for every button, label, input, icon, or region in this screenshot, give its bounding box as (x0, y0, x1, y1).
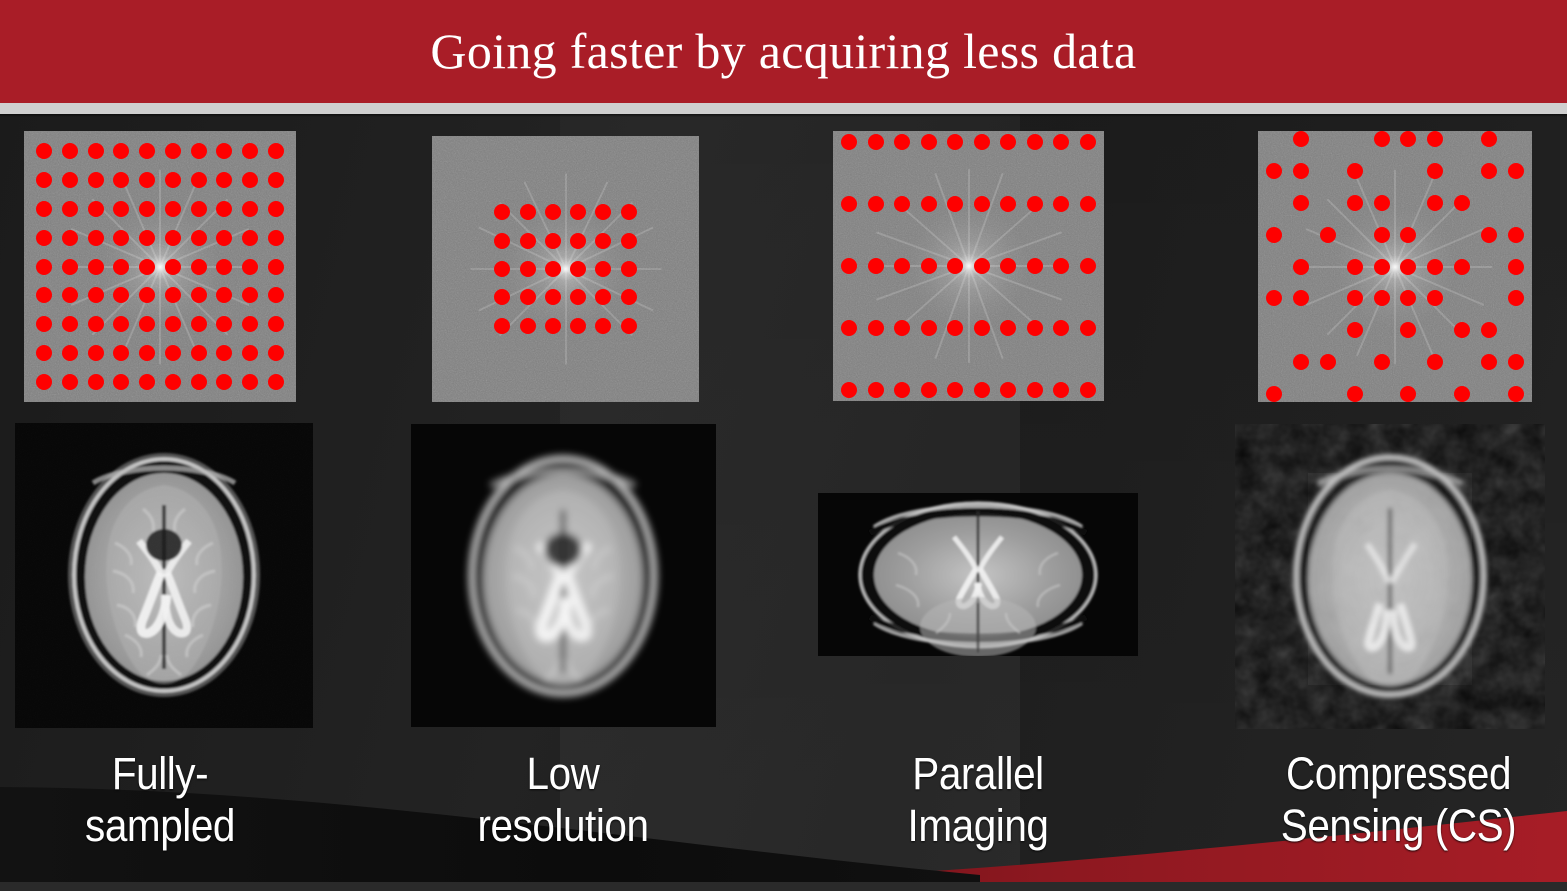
kspace-sample-dot (1000, 134, 1016, 150)
kspace-sample-dot (191, 143, 207, 159)
slide-root: Going faster by acquiring less data (0, 0, 1567, 891)
caption-fully-sampled: Fully- sampled (16, 748, 304, 852)
kspace-sample-dot (62, 374, 78, 390)
kspace-sample-dot (1454, 386, 1470, 402)
kspace-sample-dot (921, 382, 937, 398)
kspace-sample-dot (1374, 131, 1390, 147)
kspace-sample-dot (165, 201, 181, 217)
kspace-sample-dot (165, 345, 181, 361)
kspace-sample-dot (921, 258, 937, 274)
bottom-strip (0, 882, 1567, 891)
kspace-sample-dot (1508, 259, 1524, 275)
kspace-sample-dot (268, 316, 284, 332)
kspace-sample-dot (165, 259, 181, 275)
kspace-sample-dot (139, 374, 155, 390)
kspace-sample-dot (595, 233, 611, 249)
caption-line-1: Fully- (16, 748, 304, 800)
kspace-sample-dot (1293, 195, 1309, 211)
kspace-sample-dot (268, 287, 284, 303)
kspace-sample-dot (88, 201, 104, 217)
kspace-sample-dot (1508, 227, 1524, 243)
kspace-sample-dot (1027, 382, 1043, 398)
kspace-sample-dot (242, 259, 258, 275)
kspace-sample-dot (1027, 196, 1043, 212)
kspace-sample-dot (1427, 195, 1443, 211)
kspace-sample-dot (268, 201, 284, 217)
compressed-sensing-kspace (1258, 131, 1532, 402)
caption-line-2: Imaging (834, 800, 1122, 852)
title-banner: Going faster by acquiring less data (0, 0, 1567, 103)
brain-mri-axial-aliased (818, 493, 1138, 656)
kspace-sample-dot (1481, 227, 1497, 243)
parallel-imaging-brain (818, 493, 1138, 656)
kspace-sample-dot (621, 204, 637, 220)
kspace-sample-dot (1080, 382, 1096, 398)
kspace-sample-dot (1374, 259, 1390, 275)
caption-line-1: Low (419, 748, 707, 800)
kspace-sample-dot (520, 289, 536, 305)
kspace-sample-dot (88, 345, 104, 361)
kspace-sample-dot (1266, 227, 1282, 243)
kspace-sample-dot (1027, 320, 1043, 336)
caption-line-2: resolution (419, 800, 707, 852)
kspace-sample-dot (1347, 386, 1363, 402)
kspace-sample-dot (894, 134, 910, 150)
kspace-sample-dot (62, 201, 78, 217)
fully-sampled-brain (15, 423, 313, 728)
kspace-sample-dot (62, 345, 78, 361)
kspace-sample-dot (1508, 386, 1524, 402)
kspace-sample-dot (921, 320, 937, 336)
kspace-sample-dot (165, 230, 181, 246)
kspace-sample-dot (545, 261, 561, 277)
kspace-sample-dot (191, 374, 207, 390)
kspace-sample-dot (36, 259, 52, 275)
kspace-sample-dot (1080, 196, 1096, 212)
kspace-sample-dot (947, 134, 963, 150)
kspace-sample-dot (242, 345, 258, 361)
kspace-sample-dot (868, 258, 884, 274)
caption-line-1: Compressed (1247, 748, 1550, 800)
kspace-sample-dot (1508, 290, 1524, 306)
kspace-sample-dot (1080, 134, 1096, 150)
low-resolution-kspace (432, 136, 699, 402)
kspace-sample-dot (1374, 290, 1390, 306)
kspace-sample-dot (62, 230, 78, 246)
kspace-sample-dot (621, 289, 637, 305)
brain-mri-axial-sharp (15, 423, 313, 728)
kspace-sample-dot (921, 134, 937, 150)
parallel-imaging-kspace (833, 131, 1104, 401)
kspace-sample-dot (191, 316, 207, 332)
kspace-sample-dot (1293, 259, 1309, 275)
kspace-sample-dot (1027, 258, 1043, 274)
kspace-sample-dot (1053, 134, 1069, 150)
kspace-sample-dot (1374, 195, 1390, 211)
kspace-sample-dot (1374, 354, 1390, 370)
kspace-sample-dot (242, 316, 258, 332)
kspace-sample-dot (139, 201, 155, 217)
brain-mri-axial-cs (1235, 424, 1545, 729)
kspace-sample-dot (1400, 227, 1416, 243)
kspace-sample-dot (191, 201, 207, 217)
kspace-sample-dot (621, 318, 637, 334)
kspace-sample-dot (191, 345, 207, 361)
kspace-sample-dot (1481, 322, 1497, 338)
kspace-sample-dot (139, 259, 155, 275)
kspace-sample-dot (621, 233, 637, 249)
kspace-sample-dot (268, 230, 284, 246)
kspace-sample-dot (62, 259, 78, 275)
kspace-sample-dot (1080, 258, 1096, 274)
kspace-sample-dot (1347, 195, 1363, 211)
kspace-sample-dot (1320, 227, 1336, 243)
low-resolution-brain (411, 424, 716, 727)
caption-parallel-imaging: Parallel Imaging (834, 748, 1122, 852)
kspace-sample-dot (36, 230, 52, 246)
kspace-sample-dot (268, 345, 284, 361)
caption-line-1: Parallel (834, 748, 1122, 800)
kspace-sample-dot (974, 196, 990, 212)
kspace-sample-dot (216, 230, 232, 246)
kspace-sample-dot (1347, 259, 1363, 275)
kspace-sample-dot (88, 287, 104, 303)
kspace-sample-dot (868, 382, 884, 398)
kspace-sample-dot (242, 172, 258, 188)
kspace-sample-dot (1454, 259, 1470, 275)
kspace-sample-dot (88, 374, 104, 390)
kspace-sample-dot (1508, 163, 1524, 179)
kspace-sample-dot (520, 318, 536, 334)
kspace-sample-dot (545, 233, 561, 249)
kspace-sample-dot (1027, 134, 1043, 150)
kspace-sample-dot (1481, 163, 1497, 179)
kspace-sample-dot (165, 172, 181, 188)
kspace-sample-dot (113, 259, 129, 275)
kspace-sample-dot (88, 230, 104, 246)
kspace-sample-dot (216, 374, 232, 390)
kspace-sample-dot (1347, 163, 1363, 179)
kspace-sample-dot (242, 201, 258, 217)
title-divider-rule (0, 103, 1567, 114)
kspace-sample-dot (595, 318, 611, 334)
kspace-sample-dot (1374, 227, 1390, 243)
kspace-sample-dot (191, 259, 207, 275)
page-title: Going faster by acquiring less data (0, 0, 1567, 103)
kspace-sample-dot (88, 259, 104, 275)
kspace-sample-dot (1320, 354, 1336, 370)
kspace-sample-dot (88, 316, 104, 332)
kspace-sample-dot (570, 318, 586, 334)
kspace-sample-dot (868, 134, 884, 150)
kspace-sample-dot (1481, 131, 1497, 147)
kspace-sample-dot (921, 196, 937, 212)
kspace-sample-dot (1508, 354, 1524, 370)
kspace-sample-dot (191, 230, 207, 246)
brain-mri-axial-lowres (411, 424, 716, 727)
kspace-sample-dot (1080, 320, 1096, 336)
caption-low-resolution: Low resolution (419, 748, 707, 852)
kspace-sample-dot (1400, 259, 1416, 275)
kspace-sample-dot (268, 172, 284, 188)
kspace-sample-dot (974, 258, 990, 274)
kspace-sample-dot (520, 261, 536, 277)
kspace-sample-dot (165, 316, 181, 332)
kspace-sample-dot (191, 172, 207, 188)
kspace-sample-dot (494, 318, 510, 334)
kspace-sample-dot (268, 374, 284, 390)
kspace-sample-dot (268, 259, 284, 275)
kspace-sample-dot (1481, 354, 1497, 370)
caption-line-2: Sensing (CS) (1247, 800, 1550, 852)
compressed-sensing-brain (1235, 424, 1545, 729)
kspace-sample-dot (974, 382, 990, 398)
kspace-sample-dot (139, 345, 155, 361)
kspace-sample-dot (520, 233, 536, 249)
kspace-sample-dot (974, 134, 990, 150)
kspace-sample-dot (165, 374, 181, 390)
caption-compressed-sensing: Compressed Sensing (CS) (1247, 748, 1550, 852)
kspace-sample-dot (88, 172, 104, 188)
kspace-sample-dot (1427, 259, 1443, 275)
title-divider-shadow (0, 114, 1567, 117)
kspace-sample-dot (268, 143, 284, 159)
kspace-sample-dot (868, 320, 884, 336)
caption-line-2: sampled (16, 800, 304, 852)
kspace-sample-dot (621, 261, 637, 277)
kspace-sample-dot (570, 233, 586, 249)
kspace-sample-dot (216, 259, 232, 275)
kspace-sample-dot (36, 374, 52, 390)
kspace-sample-dot (88, 143, 104, 159)
kspace-sample-dot (1454, 195, 1470, 211)
kspace-sample-dot (242, 374, 258, 390)
kspace-sample-dot (1347, 322, 1363, 338)
kspace-sample-dot (841, 134, 857, 150)
fully-sampled-kspace (24, 131, 296, 402)
kspace-sample-dot (191, 287, 207, 303)
kspace-sample-dot (868, 196, 884, 212)
kspace-sample-dot (139, 230, 155, 246)
kspace-sample-dot (974, 320, 990, 336)
kspace-sample-dot (570, 261, 586, 277)
kspace-sample-dot (216, 345, 232, 361)
kspace-sample-dot (242, 230, 258, 246)
kspace-sample-dot (545, 318, 561, 334)
